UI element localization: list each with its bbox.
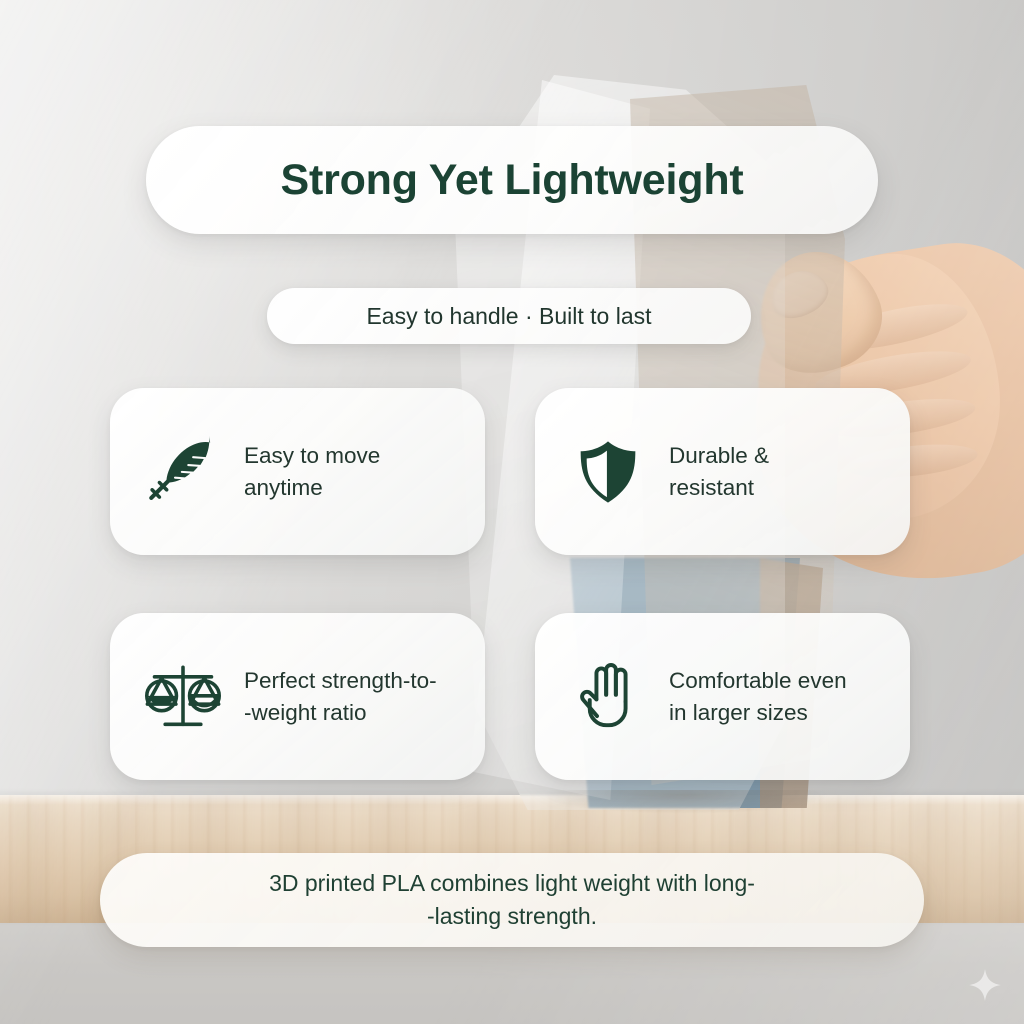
sparkle-icon xyxy=(968,968,1002,1002)
feature-card-label: Durable & resistant xyxy=(669,440,769,504)
ui-overlay: Strong Yet Lightweight Easy to handle · … xyxy=(0,0,1024,1024)
feature-card-strength-to-weight[interactable]: Perfect strength-to- -weight ratio xyxy=(110,613,485,780)
feature-label-line2: anytime xyxy=(244,475,323,500)
page-title: Strong Yet Lightweight xyxy=(280,156,743,205)
title-pill: Strong Yet Lightweight xyxy=(146,126,878,234)
feather-icon xyxy=(144,433,222,511)
feature-card-label: Perfect strength-to- -weight ratio xyxy=(244,665,437,729)
feature-card-easy-to-move[interactable]: Easy to move anytime xyxy=(110,388,485,555)
feature-label-line1: Durable & xyxy=(669,443,769,468)
feature-card-grid: Easy to move anytime Durable & resistant xyxy=(110,388,920,780)
shield-icon xyxy=(569,433,647,511)
footer-pill: 3D printed PLA combines light weight wit… xyxy=(100,853,924,947)
feature-label-line1: Perfect strength-to- xyxy=(244,668,437,693)
feature-card-durable-resistant[interactable]: Durable & resistant xyxy=(535,388,910,555)
feature-label-line2: -weight ratio xyxy=(244,700,367,725)
feature-card-comfortable[interactable]: Comfortable even in larger sizes xyxy=(535,613,910,780)
feature-card-label: Easy to move anytime xyxy=(244,440,380,504)
balance-scale-icon xyxy=(144,658,222,736)
feature-label-line1: Easy to move xyxy=(244,443,380,468)
footer-caption: 3D printed PLA combines light weight wit… xyxy=(269,867,755,934)
feature-label-line2: resistant xyxy=(669,475,754,500)
hand-icon xyxy=(569,658,647,736)
subtitle-pill: Easy to handle · Built to last xyxy=(267,288,751,344)
feature-label-line1: Comfortable even xyxy=(669,668,847,693)
footer-line1: 3D printed PLA combines light weight wit… xyxy=(269,870,755,896)
feature-card-label: Comfortable even in larger sizes xyxy=(669,665,847,729)
page-subtitle: Easy to handle · Built to last xyxy=(366,303,651,330)
feature-label-line2: in larger sizes xyxy=(669,700,808,725)
footer-line2: -lasting strength. xyxy=(427,903,597,929)
